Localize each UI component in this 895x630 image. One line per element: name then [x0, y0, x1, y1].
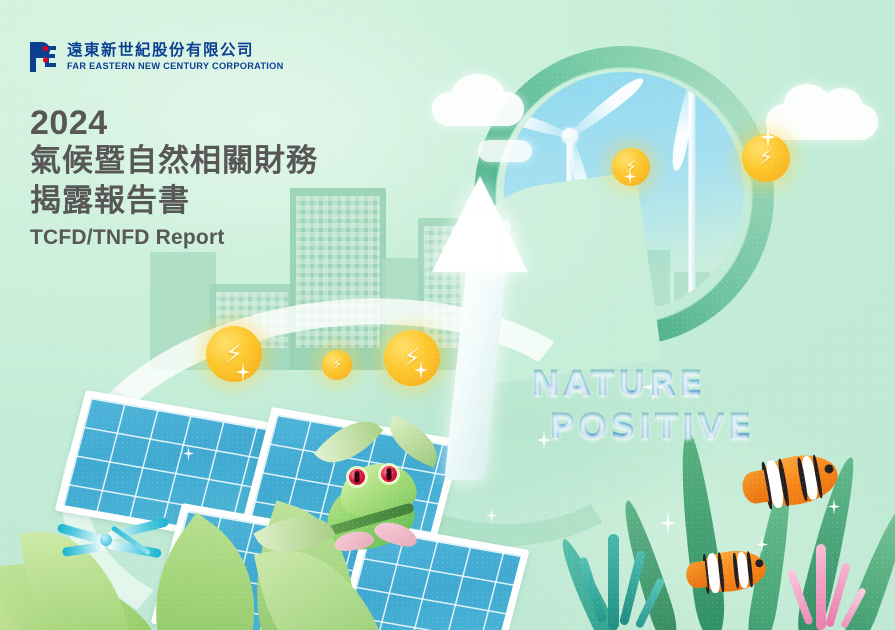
frog-eye	[346, 466, 368, 488]
seaweed	[671, 430, 730, 630]
company-name-en: FAR EASTERN NEW CENTURY CORPORATION	[67, 62, 284, 71]
tagline: NATURE POSITIVE	[531, 363, 755, 448]
energy-coin: ⚡	[742, 134, 790, 182]
energy-coin: ⚡	[384, 330, 440, 386]
cloud	[452, 74, 504, 114]
report-title-en: TCFD/TNFD Report	[30, 226, 318, 250]
coral	[788, 526, 874, 630]
cloud	[478, 140, 532, 162]
report-title-cn-line1: 氣候暨自然相關財務	[30, 142, 318, 182]
coral	[582, 510, 672, 630]
energy-coin: ⚡	[322, 350, 352, 380]
cloud	[822, 88, 862, 122]
bolt-icon: ⚡	[758, 147, 773, 169]
report-cover: ⚡ ⚡ ⚡ ⚡ ⚡	[0, 0, 895, 630]
bolt-icon: ⚡	[332, 357, 343, 372]
bolt-icon: ⚡	[225, 340, 243, 366]
frog-eye	[378, 463, 400, 485]
tagline-line-1: NATURE	[531, 363, 755, 406]
company-logo: 遠東新世紀股份有限公司 FAR EASTERN NEW CENTURY CORP…	[28, 40, 284, 74]
report-title-cn-line2: 揭露報告書	[30, 182, 318, 222]
bolt-icon: ⚡	[625, 158, 638, 176]
tagline-line-2: POSITIVE	[549, 406, 755, 449]
cover-titles: 2024 氣候暨自然相關財務 揭露報告書 TCFD/TNFD Report	[30, 104, 318, 250]
report-year: 2024	[30, 104, 318, 142]
bolt-icon: ⚡	[403, 344, 421, 370]
arrow-head	[432, 176, 528, 272]
energy-coin: ⚡	[612, 148, 650, 186]
company-name-cn: 遠東新世紀股份有限公司	[67, 43, 284, 59]
dragonfly	[74, 522, 184, 582]
energy-coin: ⚡	[206, 326, 262, 382]
fe-monogram-icon	[28, 40, 58, 74]
